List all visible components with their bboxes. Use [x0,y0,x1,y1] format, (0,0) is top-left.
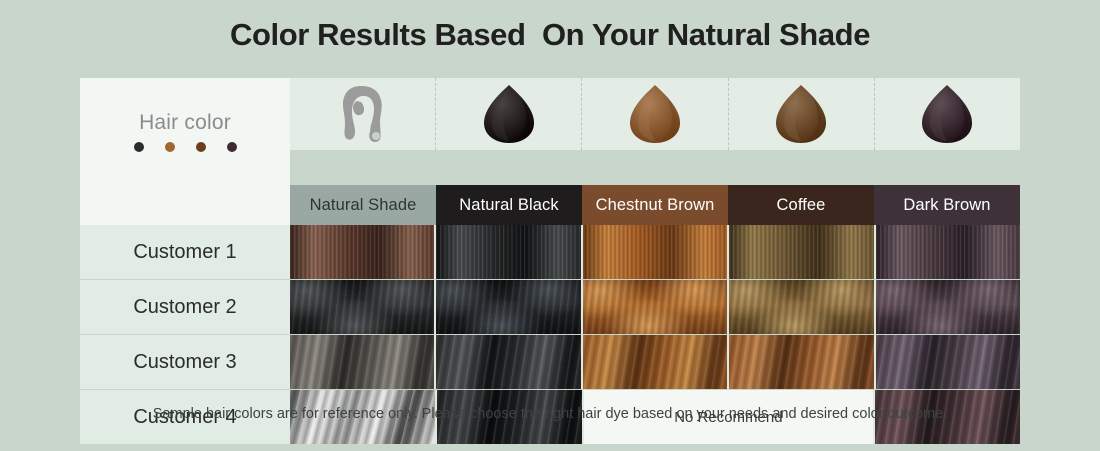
row-cells [290,335,1020,389]
hair-texture-swatch [290,335,434,389]
shade-swatch-2 [582,78,728,150]
hair-texture-swatch [436,225,580,279]
hair-sample-cell [290,335,436,389]
hair-drop-icon [772,83,830,145]
shade-header-2[interactable]: Chestnut Brown [582,185,728,225]
hair-sample-cell [583,335,729,389]
hair-texture-swatch [729,280,873,334]
row-label-customer-2: Customer 2 [80,280,290,334]
hair-sample-cell [876,335,1020,389]
row-cells [290,225,1020,279]
hair-texture-swatch [729,335,873,389]
shade-header-4[interactable]: Dark Brown [874,185,1020,225]
hair-sample-cell [436,335,582,389]
dot-black [134,142,144,152]
color-results-table: Hair color Natural ShadeNatural BlackChe… [80,78,1020,445]
shade-header-3[interactable]: Coffee [728,185,874,225]
hair-sample-cell [876,225,1020,279]
infographic-page: Color Results Based On Your Natural Shad… [0,0,1100,451]
shade-header-1[interactable]: Natural Black [436,185,582,225]
hair-sample-cell [290,280,436,334]
shade-swatch-icons [290,78,1020,150]
hair-texture-swatch [583,335,727,389]
shade-name-headers: Natural ShadeNatural BlackChestnut Brown… [290,185,1020,225]
hair-texture-swatch [876,225,1020,279]
hair-sample-cell [436,225,582,279]
shade-swatch-4 [875,78,1020,150]
hair-color-dots [134,142,237,152]
hair-sample-cell [729,335,875,389]
row-label-customer-1: Customer 1 [80,225,290,279]
hair-sample-cell [436,280,582,334]
hair-drop-icon [918,83,976,145]
hair-texture-swatch [729,225,873,279]
header-spacer [80,185,290,225]
row-cells [290,280,1020,334]
hair-texture-swatch [876,280,1020,334]
dot-plum [227,142,237,152]
hair-texture-swatch [290,225,434,279]
table-row: Customer 3 [80,335,1020,390]
dot-brown [196,142,206,152]
hair-sample-cell [583,225,729,279]
woman-hair-silhouette-icon [334,83,392,145]
shade-swatch-0 [290,78,436,150]
dot-copper [165,142,175,152]
shade-header-0[interactable]: Natural Shade [290,185,436,225]
hair-sample-cell [583,280,729,334]
hair-sample-cell [290,225,436,279]
hair-drop-icon [480,83,538,145]
hair-sample-cell [729,225,875,279]
hair-sample-cell [876,280,1020,334]
hair-texture-swatch [583,225,727,279]
table-header-name-row: Natural ShadeNatural BlackChestnut Brown… [80,185,1020,225]
hair-texture-swatch [436,335,580,389]
hair-texture-swatch [583,280,727,334]
hair-color-label: Hair color [139,111,231,135]
table-row: Customer 2 [80,280,1020,335]
table-row: Customer 1 [80,225,1020,280]
page-title: Color Results Based On Your Natural Shad… [0,17,1100,53]
hair-drop-icon [626,83,684,145]
shade-swatch-1 [436,78,582,150]
row-label-customer-3: Customer 3 [80,335,290,389]
hair-color-legend: Hair color [80,78,290,185]
hair-texture-swatch [876,335,1020,389]
hair-sample-cell [729,280,875,334]
shade-swatch-3 [729,78,875,150]
hair-texture-swatch [290,280,434,334]
footer-note: Sample hair colors are for reference onl… [0,406,1100,422]
table-header-swatch-row: Hair color [80,78,1020,185]
hair-texture-swatch [436,280,580,334]
